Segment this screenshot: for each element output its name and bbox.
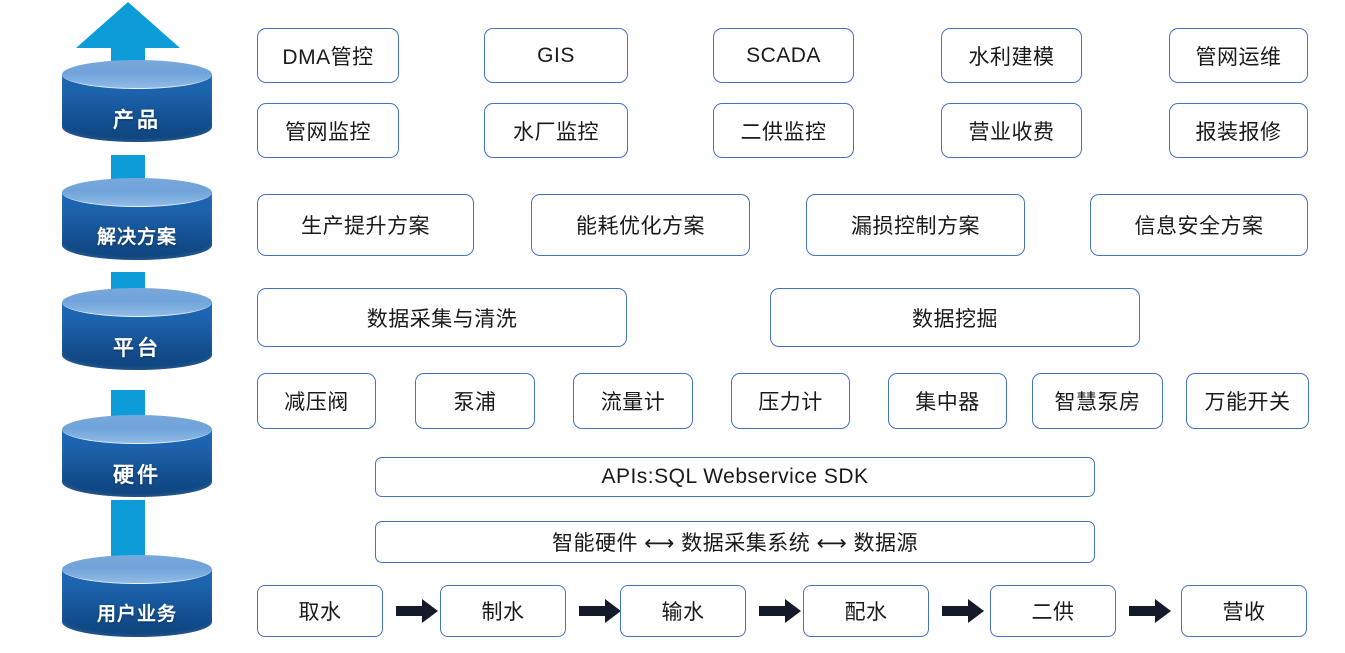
hardware-box-smart-pump-room[interactable]: 智慧泵房: [1032, 373, 1163, 429]
upward-arrow-head-icon: [76, 2, 180, 48]
solution-box-leakage[interactable]: 漏损控制方案: [806, 194, 1025, 256]
product-box-pipe-monitor[interactable]: 管网监控: [257, 103, 399, 158]
platform-box-data-mining[interactable]: 数据挖掘: [770, 288, 1140, 347]
layer-label-business: 用户业务: [62, 599, 212, 626]
product-box-scada[interactable]: SCADA: [713, 28, 854, 83]
flow-arrow-3-icon: [759, 598, 801, 624]
product-box-modeling[interactable]: 水利建模: [941, 28, 1082, 83]
layer-cylinder-product[interactable]: 产品: [62, 60, 212, 148]
solution-box-security[interactable]: 信息安全方案: [1090, 194, 1308, 256]
flow-arrow-5-icon: [1129, 598, 1171, 624]
layer-stack: 产品 解决方案 平台 硬件 用户业务: [0, 0, 240, 653]
layer-label-product: 产品: [62, 104, 212, 134]
layer-cylinder-business[interactable]: 用户业务: [62, 555, 212, 643]
flow-box-secondary-supply[interactable]: 二供: [990, 585, 1116, 637]
cylinder-top-ellipse: [62, 178, 212, 207]
product-box-billing[interactable]: 营业收费: [941, 103, 1082, 158]
hardware-box-concentrator[interactable]: 集中器: [888, 373, 1007, 429]
hardware-box-universal-switch[interactable]: 万能开关: [1186, 373, 1309, 429]
layer-label-platform: 平台: [62, 332, 212, 362]
flow-arrow-4-icon: [942, 598, 984, 624]
hardware-box-pressure-gauge[interactable]: 压力计: [731, 373, 850, 429]
diagram-canvas: 产品 解决方案 平台 硬件 用户业务 DMA管控 GIS SCADA 水: [0, 0, 1345, 653]
platform-box-data-collection[interactable]: 数据采集与清洗: [257, 288, 627, 347]
cylinder-top-ellipse: [62, 288, 212, 317]
flow-arrow-2-icon: [579, 598, 621, 624]
dataflow-bar[interactable]: 智能硬件 ⟷ 数据采集系统 ⟷ 数据源: [375, 521, 1095, 563]
hardware-box-flow-meter[interactable]: 流量计: [573, 373, 693, 429]
product-box-secondary-monitor[interactable]: 二供监控: [713, 103, 854, 158]
product-box-dma[interactable]: DMA管控: [257, 28, 399, 83]
cylinder-top-ellipse: [62, 555, 212, 584]
layer-cylinder-solution[interactable]: 解决方案: [62, 178, 212, 266]
flow-box-treatment[interactable]: 制水: [440, 585, 566, 637]
layer-label-hardware: 硬件: [62, 459, 212, 489]
product-box-pipe-om[interactable]: 管网运维: [1169, 28, 1308, 83]
flow-box-intake[interactable]: 取水: [257, 585, 383, 637]
layer-label-solution: 解决方案: [62, 222, 212, 249]
flow-arrow-1-icon: [396, 598, 438, 624]
flow-box-distribution[interactable]: 配水: [803, 585, 929, 637]
layer-cylinder-hardware[interactable]: 硬件: [62, 415, 212, 503]
flow-box-transmission[interactable]: 输水: [620, 585, 746, 637]
api-bar[interactable]: APIs:SQL Webservice SDK: [375, 457, 1095, 497]
product-box-installation-repair[interactable]: 报装报修: [1169, 103, 1308, 158]
flow-box-revenue[interactable]: 营收: [1181, 585, 1307, 637]
solution-box-production[interactable]: 生产提升方案: [257, 194, 474, 256]
cylinder-top-ellipse: [62, 60, 212, 89]
hardware-box-pump[interactable]: 泵浦: [415, 373, 535, 429]
cylinder-top-ellipse: [62, 415, 212, 444]
hardware-box-pressure-reducing-valve[interactable]: 减压阀: [257, 373, 376, 429]
layer-cylinder-platform[interactable]: 平台: [62, 288, 212, 376]
product-box-plant-monitor[interactable]: 水厂监控: [484, 103, 628, 158]
product-box-gis[interactable]: GIS: [484, 28, 628, 83]
solution-box-energy[interactable]: 能耗优化方案: [531, 194, 750, 256]
